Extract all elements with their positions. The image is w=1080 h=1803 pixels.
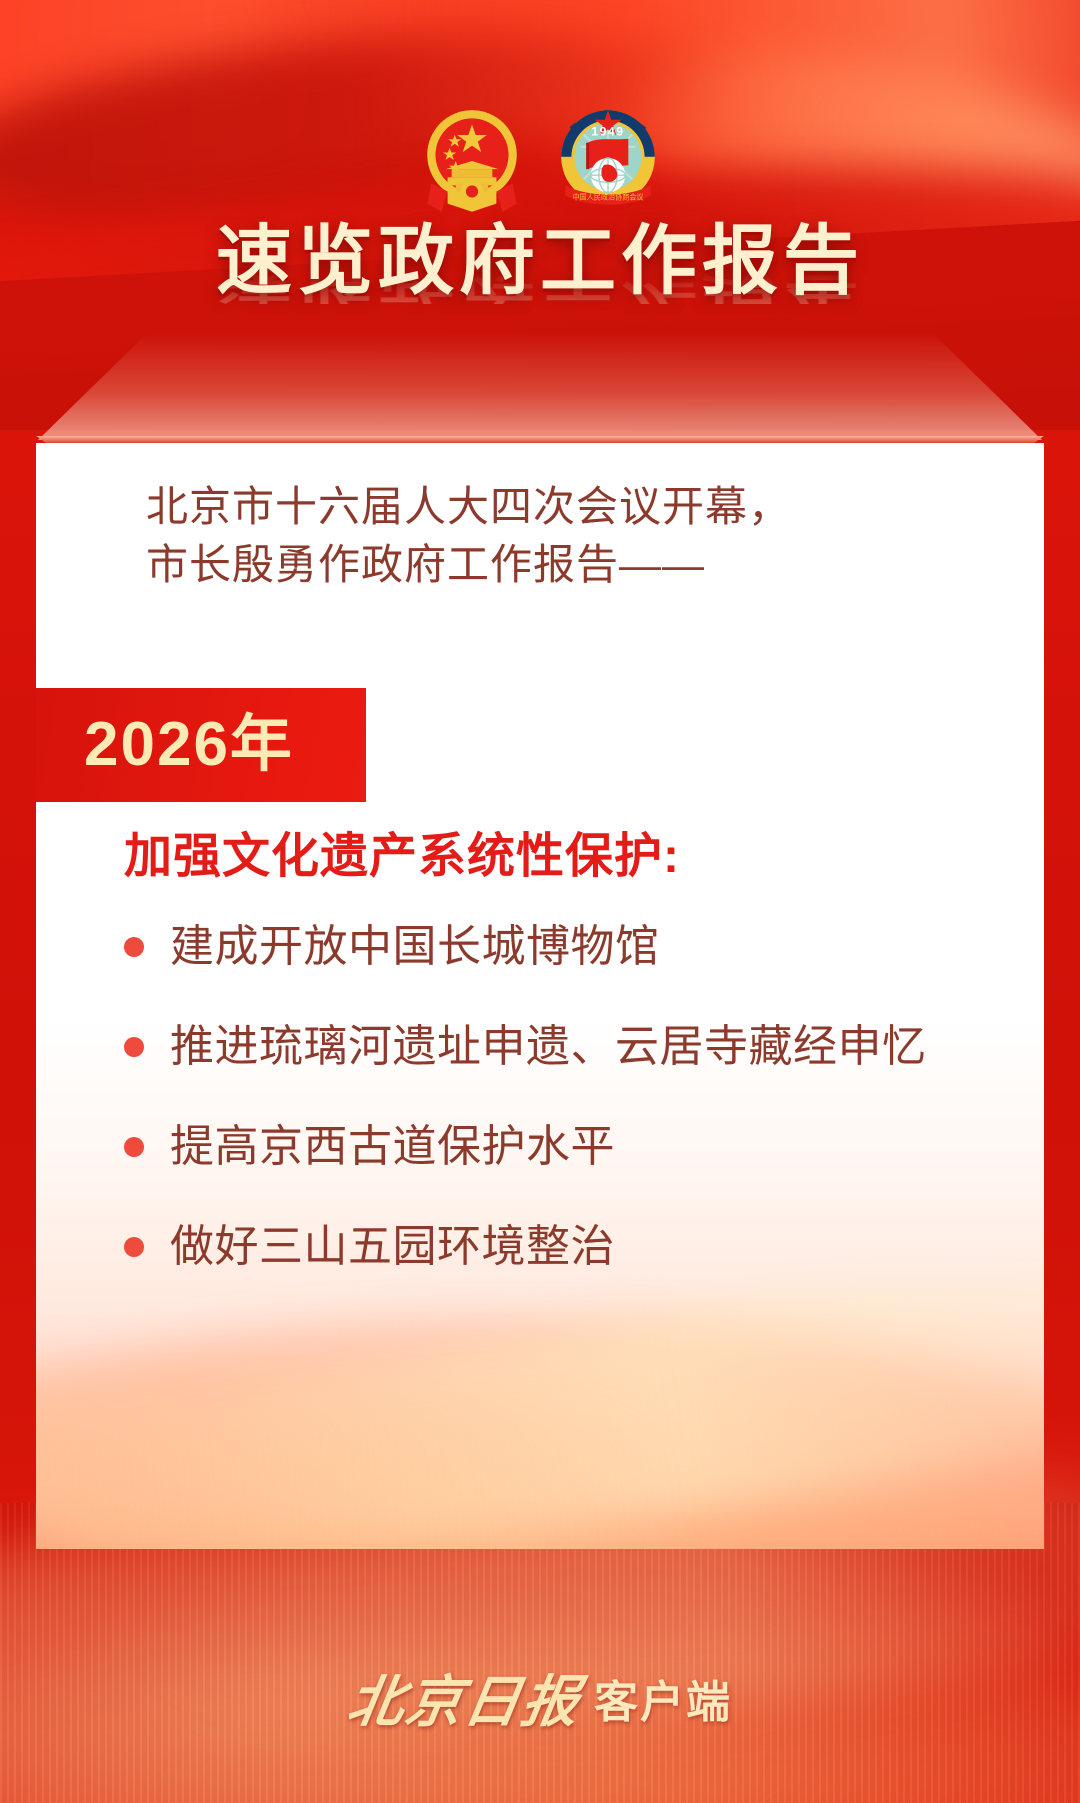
bullet-dot-icon bbox=[124, 1137, 144, 1157]
list-item: 推进琉璃河遗址申遗、云居寺藏经申忆 bbox=[124, 1021, 1004, 1073]
stage-platform bbox=[0, 332, 1080, 452]
list-item-label: 做好三山五园环境整治 bbox=[170, 1221, 615, 1273]
poster-root: 1949 中国人民政治协商会议 速览政府工作报告 速览政府工作报告 bbox=[0, 0, 1080, 1803]
brand-name: 北京日报 bbox=[344, 1675, 585, 1731]
svg-text:中国人民政治协商会议: 中国人民政治协商会议 bbox=[572, 193, 643, 202]
year-badge-label: 2026年 bbox=[36, 714, 294, 776]
cppcc-emblem-icon: 1949 中国人民政治协商会议 bbox=[547, 98, 669, 224]
bullet-list: 建成开放中国长城博物馆 推进琉璃河遗址申遗、云居寺藏经申忆 提高京西古道保护水平… bbox=[124, 921, 1004, 1321]
lead-paragraph: 北京市十六届人大四次会议开幕， 市长殷勇作政府工作报告—— bbox=[146, 478, 946, 594]
page-title-reflection: 速览政府工作报告 bbox=[0, 257, 1080, 304]
list-item: 做好三山五园环境整治 bbox=[124, 1221, 1004, 1273]
year-ribbon: 2026年 bbox=[36, 688, 1044, 802]
content-card: 北京市十六届人大四次会议开幕， 市长殷勇作政府工作报告—— 2026年 加强文化… bbox=[36, 443, 1044, 1549]
list-item: 提高京西古道保护水平 bbox=[124, 1121, 1004, 1173]
section-title: 加强文化遗产系统性保护: bbox=[124, 833, 680, 881]
bullet-dot-icon bbox=[124, 1237, 144, 1257]
list-item-label: 提高京西古道保护水平 bbox=[170, 1121, 615, 1173]
svg-text:1949: 1949 bbox=[591, 125, 624, 139]
list-item: 建成开放中国长城博物馆 bbox=[124, 921, 1004, 973]
footer-brand: 北京日报 客户端 bbox=[0, 1648, 1080, 1758]
list-item-label: 建成开放中国长城博物馆 bbox=[170, 921, 660, 973]
bullet-dot-icon bbox=[124, 1037, 144, 1057]
ribbon-body: 2026年 bbox=[36, 688, 366, 802]
emblem-row: 1949 中国人民政治协商会议 bbox=[0, 96, 1080, 226]
list-item-label: 推进琉璃河遗址申遗、云居寺藏经申忆 bbox=[170, 1021, 927, 1073]
national-emblem-of-china-icon bbox=[411, 98, 533, 224]
brand-suffix: 客户端 bbox=[594, 1681, 732, 1725]
bullet-dot-icon bbox=[124, 937, 144, 957]
